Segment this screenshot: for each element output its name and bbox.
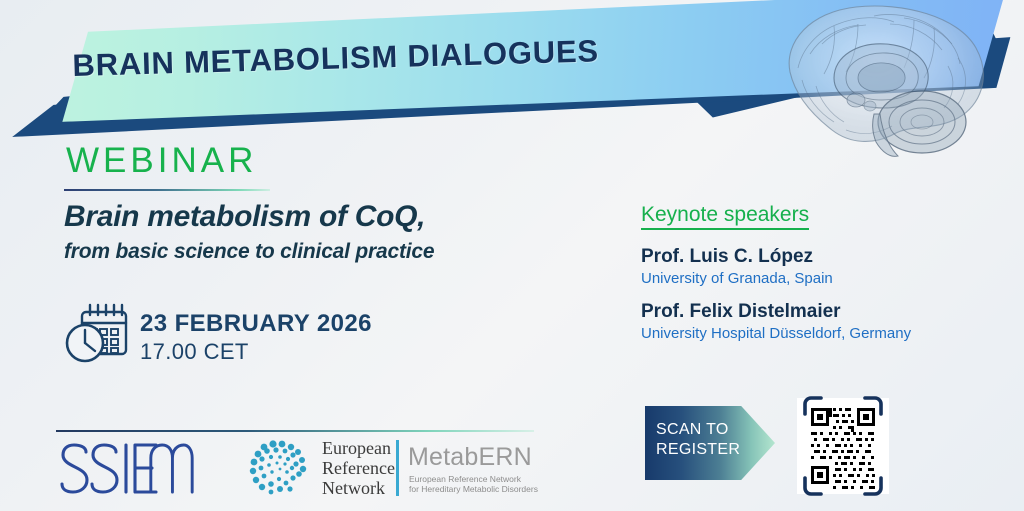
- webinar-divider: [64, 189, 270, 191]
- event-time: 17.00 CET: [140, 339, 249, 365]
- scan-cta-line1: SCAN TO: [656, 420, 766, 440]
- header-banner: BRAIN METABOLISM DIALOGUES: [0, 0, 1024, 150]
- keynote-speakers-heading: Keynote speakers: [641, 203, 809, 230]
- ern-line-2: Reference: [322, 458, 395, 478]
- speaker-name-1: Prof. Luis C. López: [641, 246, 813, 268]
- ssiem-logo: [60, 443, 200, 495]
- footer-divider: [56, 430, 534, 432]
- speaker-affiliation-1: University of Granada, Spain: [641, 270, 833, 287]
- webinar-title-line2: from basic science to clinical practice: [64, 240, 434, 264]
- metabern-tagline-line1: European Reference Network: [409, 474, 538, 484]
- webinar-title-line1: Brain metabolism of CoQ,: [64, 200, 425, 234]
- qr-code[interactable]: [789, 390, 897, 502]
- ern-line-3: Network: [322, 478, 395, 498]
- metabern-wordmark: MetabERN: [408, 443, 532, 472]
- speaker-name-2: Prof. Felix Distelmaier: [641, 301, 841, 323]
- scan-cta-line2: REGISTER: [656, 440, 766, 460]
- calendar-clock-icon: [64, 302, 132, 364]
- footer-logo-divider: [396, 440, 399, 496]
- webinar-kicker: WEBINAR: [66, 141, 257, 181]
- poster-canvas: BRAIN METABOLISM DIALOGUES WEBINAR Brain…: [0, 0, 1024, 511]
- ern-wordmark: European Reference Network: [322, 438, 395, 498]
- event-date: 23 FEBRUARY 2026: [140, 310, 372, 338]
- speaker-affiliation-2: University Hospital Düsseldorf, Germany: [641, 325, 911, 342]
- metabern-tagline-line2: for Hereditary Metabolic Disorders: [409, 484, 538, 494]
- ern-line-1: European: [322, 438, 395, 458]
- scan-to-register-label: SCAN TO REGISTER: [656, 420, 766, 460]
- metabern-tagline: European Reference Network for Hereditar…: [409, 474, 538, 494]
- ern-dot-spiral-icon: [246, 437, 316, 499]
- brain-illustration-icon: [762, 0, 1012, 162]
